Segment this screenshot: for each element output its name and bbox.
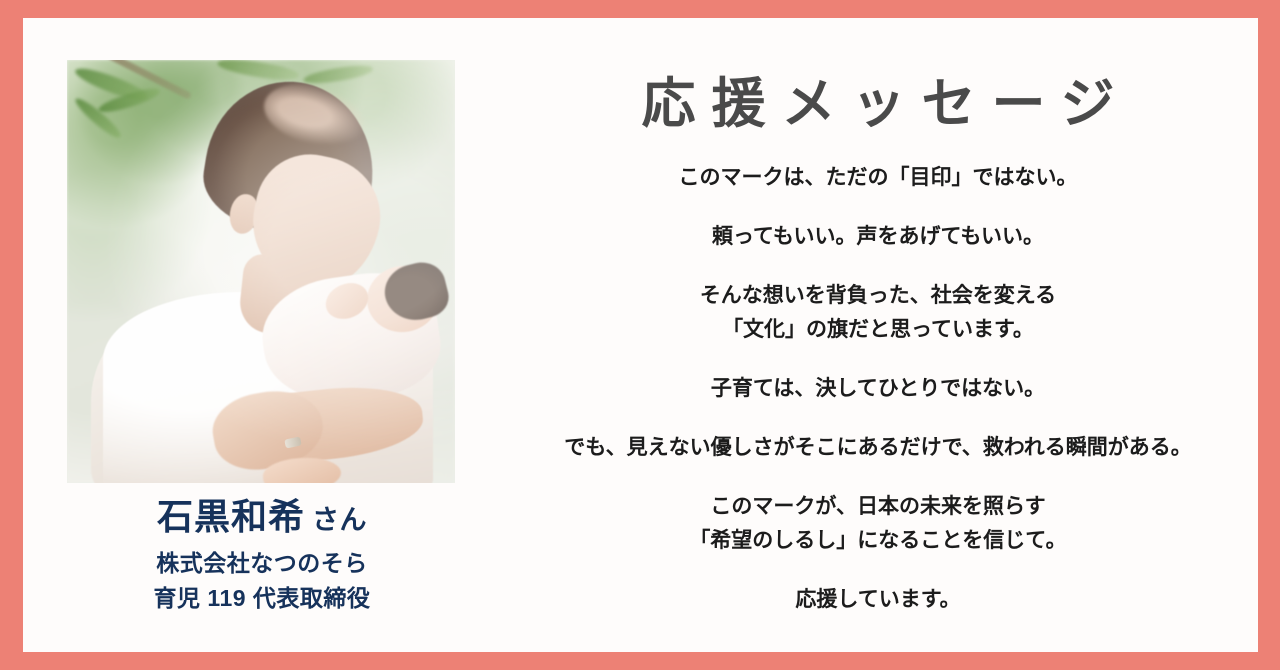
page-title: 応援メッセージ bbox=[483, 72, 1273, 137]
profile-affiliation: 株式会社なつのそら 育児 119 代表取締役 bbox=[67, 546, 457, 617]
message-line: このマークは、ただの「目印」ではない。 bbox=[483, 161, 1273, 195]
message-line: 応援しています。 bbox=[483, 583, 1273, 617]
message-body: このマークは、ただの「目印」ではない。 頼ってもいい。声をあげてもいい。 そんな… bbox=[483, 161, 1273, 617]
message-paragraph: 頼ってもいい。声をあげてもいい。 bbox=[483, 220, 1273, 254]
message-paragraph: このマークは、ただの「目印」ではない。 bbox=[483, 161, 1273, 195]
coral-frame: 石黒和希さん 株式会社なつのそら 育児 119 代表取締役 応援メッセージ この… bbox=[0, 0, 1280, 670]
message-line: 頼ってもいい。声をあげてもいい。 bbox=[483, 220, 1273, 254]
message-paragraph: そんな想いを背負った、社会を変える 「文化」の旗だと思っています。 bbox=[483, 279, 1273, 347]
profile-column: 石黒和希さん 株式会社なつのそら 育児 119 代表取締役 bbox=[67, 60, 457, 630]
message-paragraph: 応援しています。 bbox=[483, 583, 1273, 617]
message-paragraph: でも、見えない優しさがそこにあるだけで、救われる瞬間がある。 bbox=[483, 431, 1273, 465]
message-paragraph: このマークが、日本の未来を照らす 「希望のしるし」になることを信じて。 bbox=[483, 490, 1273, 558]
message-line: でも、見えない優しさがそこにあるだけで、救われる瞬間がある。 bbox=[483, 431, 1273, 465]
profile-photo bbox=[67, 60, 455, 483]
message-column: 応援メッセージ このマークは、ただの「目印」ではない。 頼ってもいい。声をあげて… bbox=[483, 58, 1273, 648]
message-line: 「希望のしるし」になることを信じて。 bbox=[483, 524, 1273, 558]
message-line: このマークが、日本の未来を照らす bbox=[483, 490, 1273, 524]
message-line: そんな想いを背負った、社会を変える bbox=[483, 279, 1273, 313]
message-card: 石黒和希さん 株式会社なつのそら 育児 119 代表取締役 応援メッセージ この… bbox=[23, 18, 1258, 652]
profile-name-line: 石黒和希さん bbox=[67, 497, 457, 537]
message-paragraph: 子育ては、決してひとりではない。 bbox=[483, 372, 1273, 406]
profile-title: 育児 119 代表取締役 bbox=[67, 581, 457, 617]
message-line: 子育ては、決してひとりではない。 bbox=[483, 372, 1273, 406]
profile-name: 石黒和希 bbox=[157, 496, 305, 537]
message-line: 「文化」の旗だと思っています。 bbox=[483, 313, 1273, 347]
profile-company: 株式会社なつのそら bbox=[67, 546, 457, 582]
profile-name-honorific: さん bbox=[312, 505, 367, 535]
